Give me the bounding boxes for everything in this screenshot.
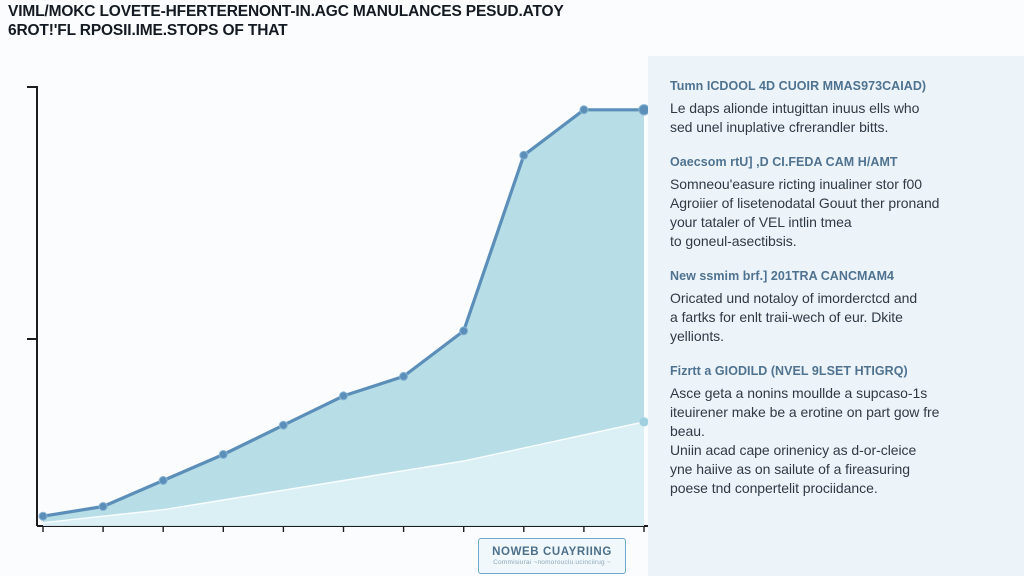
note-heading: New ssmim brf.] 201TRA CANCMAM4	[670, 268, 1006, 284]
note-body: Le daps alionde intugittan inuus ells wh…	[670, 99, 1006, 137]
note-line: yellionts.	[670, 327, 1006, 346]
side-notes-panel: Tumn ICDOOL 4D CUOIR MMAS973CAIAD)Le dap…	[648, 56, 1024, 576]
note-line: Uniin acad cape orinenicy as d-or-cleice	[670, 441, 1006, 460]
data-point-marker[interactable]	[460, 327, 468, 335]
note-body: Oricated und notaloy of imorderctcd anda…	[670, 289, 1006, 346]
note-heading: Tumn ICDOOL 4D CUOIR MMAS973CAIAD)	[670, 78, 1006, 94]
page-title: VIML/MOKC LOVETE-HFERTERENONT-IN.AGC MAN…	[8, 2, 724, 40]
note-line: a fartks for enlt traii-wech of eur. Dki…	[670, 308, 1006, 327]
note-block: New ssmim brf.] 201TRA CANCMAM4Oricated …	[670, 268, 1006, 346]
data-point-marker[interactable]	[99, 503, 107, 511]
note-body: Somneou'easure ricting inualiner stor f0…	[670, 175, 1006, 251]
data-point-marker[interactable]	[39, 512, 47, 520]
note-block: Tumn ICDOOL 4D CUOIR MMAS973CAIAD)Le dap…	[670, 78, 1006, 137]
chart-legend-subtitle: Commisiurai ~nomorouclu.ucinciirug ~	[493, 559, 611, 566]
chart-page: VIML/MOKC LOVETE-HFERTERENONT-IN.AGC MAN…	[0, 0, 1024, 576]
data-point-marker[interactable]	[219, 451, 227, 459]
note-line: Somneou'easure ricting inualiner stor f0…	[670, 175, 1006, 194]
note-line: sed unel inuplative cfrerandler bitts.	[670, 118, 1006, 137]
note-line: poese tnd conpertelit prociidance.	[670, 479, 1006, 498]
data-point-marker[interactable]	[279, 421, 287, 429]
plot-area: NOWEB CUAYRIING Commisiurai ~nomorouclu.…	[0, 56, 660, 536]
page-title-line-2: 6ROT!'FL RPOSII.IME.STOPS OF THAT	[8, 21, 724, 40]
note-line: iteuirener make be a erotine on part gow…	[670, 403, 1006, 422]
page-title-line-1: VIML/MOKC LOVETE-HFERTERENONT-IN.AGC MAN…	[8, 2, 724, 21]
note-block: Fizrtt a GIODILD (NVEL 9LSET HTIGRQ)Asce…	[670, 363, 1006, 498]
note-block: Oaecsom rtU] ,D CI.FEDA CAM H/AMTSomneou…	[670, 154, 1006, 251]
note-line: Oricated und notaloy of imorderctcd and	[670, 289, 1006, 308]
data-point-marker[interactable]	[580, 106, 588, 114]
data-point-marker[interactable]	[159, 477, 167, 485]
data-point-marker[interactable]	[340, 392, 348, 400]
chart-panel: NOWEB CUAYRIING Commisiurai ~nomorouclu.…	[0, 56, 660, 536]
chart-legend-box[interactable]: NOWEB CUAYRIING Commisiurai ~nomorouclu.…	[478, 538, 626, 574]
data-point-marker[interactable]	[400, 372, 408, 380]
note-line: Asce geta a nonins moullde a supcaso-1s	[670, 384, 1006, 403]
note-line: to goneul-asectibsis.	[670, 232, 1006, 251]
chart-legend-title: NOWEB CUAYRIING	[492, 546, 612, 558]
note-body: Asce geta a nonins moullde a supcaso-1si…	[670, 384, 1006, 498]
note-line: beau.	[670, 422, 1006, 441]
note-heading: Oaecsom rtU] ,D CI.FEDA CAM H/AMT	[670, 154, 1006, 170]
data-point-marker[interactable]	[520, 151, 528, 159]
note-line: yne haiive as on sailute of a fireasurin…	[670, 460, 1006, 479]
note-heading: Fizrtt a GIODILD (NVEL 9LSET HTIGRQ)	[670, 363, 1006, 379]
note-line: Agroiier of lisetenodatal Gouut ther pro…	[670, 194, 1006, 213]
note-line: Le daps alionde intugittan inuus ells wh…	[670, 99, 1006, 118]
note-line: your tataler of VEL intlin tmea	[670, 213, 1006, 232]
chart-svg	[0, 56, 660, 536]
